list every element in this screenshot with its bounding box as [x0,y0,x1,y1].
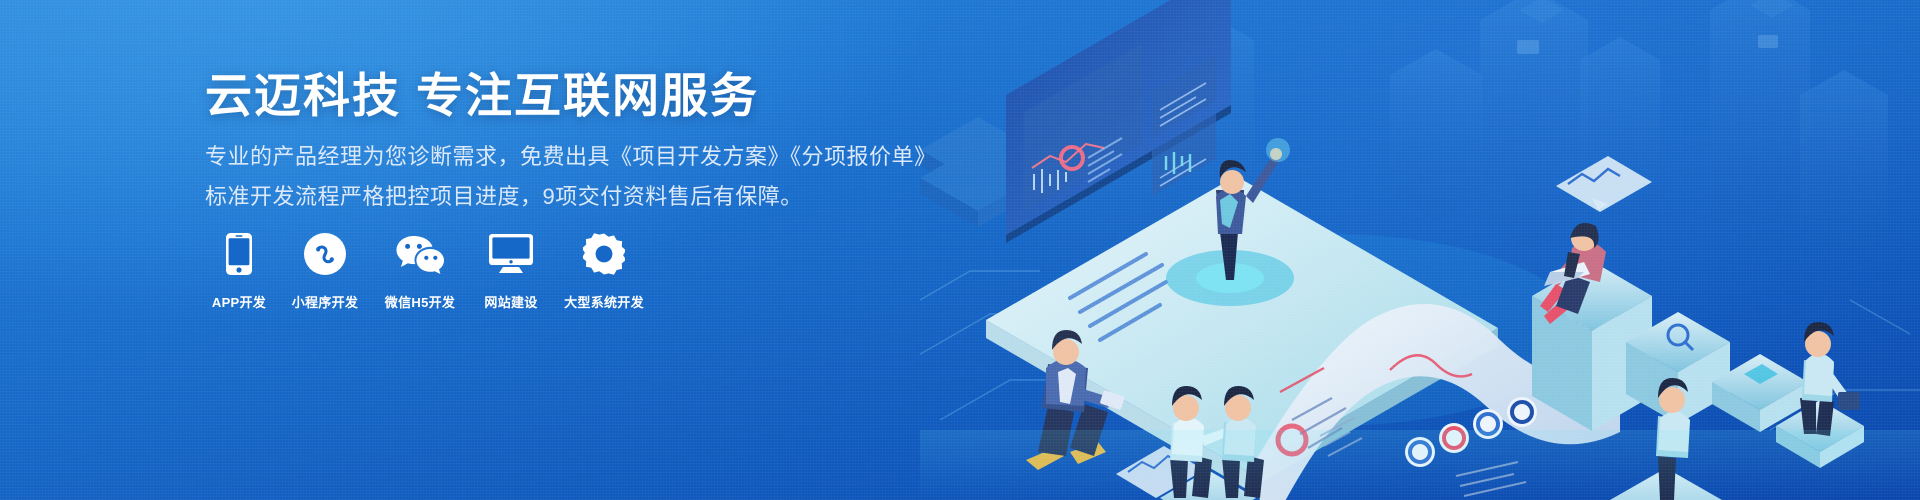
service-item-system[interactable]: 大型系统开发 [554,232,654,311]
monitor-icon [489,232,533,276]
isometric-tech-illustration [920,0,1920,500]
page-title: 云迈科技 专注互联网服务 [205,72,759,119]
mobile-phone-icon [226,232,252,276]
service-label: 微信H5开发 [385,292,455,311]
service-icon-list: APP开发 小程序开发 [200,232,654,311]
wechat-icon [395,232,445,276]
service-label: 小程序开发 [292,292,359,311]
mini-program-icon [304,232,346,276]
hero-banner: 云迈科技 专注互联网服务 专业的产品经理为您诊断需求，免费出具《项目开发方案》《… [0,0,1920,500]
service-item-website[interactable]: 网站建设 [468,232,554,311]
gear-icon [583,232,625,276]
subtitle-line-1: 专业的产品经理为您诊断需求，免费出具《项目开发方案》《分项报价单》 [205,146,937,168]
service-item-miniprogram[interactable]: 小程序开发 [278,232,372,311]
service-item-wechat[interactable]: 微信H5开发 [372,232,468,311]
banner-content: 云迈科技 专注互联网服务 专业的产品经理为您诊断需求，免费出具《项目开发方案》《… [0,0,980,500]
service-item-app[interactable]: APP开发 [200,232,278,311]
bottom-glow [920,430,1920,500]
service-label: APP开发 [212,292,266,311]
service-label: 网站建设 [484,292,537,311]
subtitle-line-2: 标准开发流程严格把控项目进度，9项交付资料售后有保障。 [205,186,803,208]
service-label: 大型系统开发 [564,292,644,311]
